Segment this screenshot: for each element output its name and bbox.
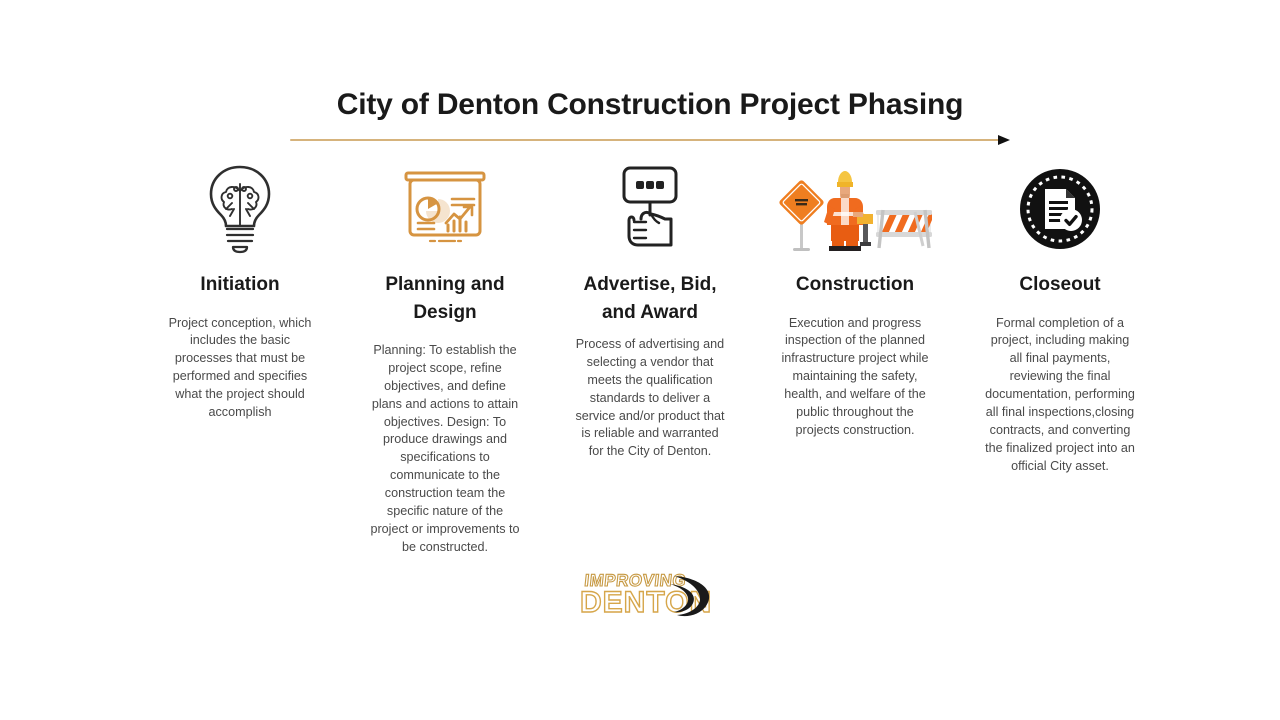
phase-heading: Advertise, Bid, and Award	[564, 271, 736, 326]
construction-worker-barricade-icon	[765, 163, 945, 255]
lightbulb-brain-icon	[150, 163, 330, 255]
underline-bar	[290, 139, 1000, 142]
improving-denton-logo: IMPROVING DENTON	[578, 566, 724, 624]
slide-canvas: City of Denton Construction Project Phas…	[0, 0, 1280, 720]
phase-columns: Initiation Project conception, which inc…	[150, 163, 1150, 557]
phase-heading: Construction	[769, 271, 941, 299]
phase-description: Execution and progress inspection of the…	[779, 315, 931, 440]
phase-description: Planning: To establish the project scope…	[369, 342, 521, 557]
presentation-chart-icon	[355, 163, 535, 255]
title-underline-arrow	[290, 135, 1010, 145]
phase-column-planning-and-design: Planning and Design Planning: To establi…	[355, 163, 535, 557]
phase-column-advertise-bid-award: Advertise, Bid, and Award Process of adv…	[560, 163, 740, 461]
phase-column-closeout: Closeout Formal completion of a project,…	[970, 163, 1150, 475]
phase-description: Process of advertising and selecting a v…	[574, 336, 726, 461]
phase-description: Formal completion of a project, includin…	[984, 315, 1136, 476]
arrow-head-icon	[998, 135, 1010, 145]
phase-column-initiation: Initiation Project conception, which inc…	[150, 163, 330, 422]
phase-description: Project conception, which includes the b…	[164, 315, 316, 422]
title-block: City of Denton Construction Project Phas…	[290, 88, 1010, 145]
phase-heading: Planning and Design	[359, 271, 531, 326]
phase-column-construction: Construction Execution and progress insp…	[765, 163, 945, 440]
phase-heading: Closeout	[974, 271, 1146, 299]
certified-document-badge-icon	[970, 163, 1150, 255]
hand-bid-paddle-icon	[560, 163, 740, 255]
phase-heading: Initiation	[154, 271, 326, 299]
page-title: City of Denton Construction Project Phas…	[290, 88, 1010, 123]
